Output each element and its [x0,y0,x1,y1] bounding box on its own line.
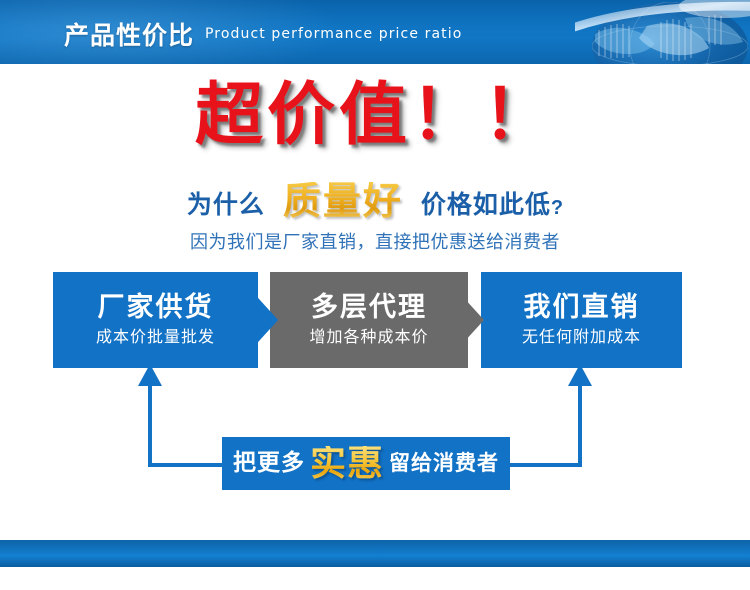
flow-box-multi-level-agency: 多层代理 增加各种成本价 [270,272,468,368]
flow-box-subtitle: 成本价批量批发 [96,329,215,346]
flow-box-title: 厂家供货 [98,294,214,322]
header-title-en: Product performance price ratio [205,26,462,42]
subtitle-row: 为什么 质量好 价格如此低? [0,182,750,220]
flow-box-title: 多层代理 [311,294,427,322]
header-banner: 产品性价比 Product performance price ratio [0,0,750,64]
subtitle-line2: 因为我们是厂家直销，直接把优惠送给消费者 [0,228,750,254]
flow-box-title: 我们直销 [524,294,640,322]
chevron-right-icon-blue [250,298,280,342]
bottom-accent-bar [0,540,750,567]
world-globe-icon [575,0,750,64]
flow-box-subtitle: 增加各种成本价 [309,329,428,346]
flow-box-subtitle: 无任何附加成本 [522,329,641,346]
callout-part1: 把更多 [233,452,305,475]
subtitle-highlight: 质量好 [283,182,403,220]
subtitle-part1: 为什么 [187,192,265,220]
callout-banner: 把更多 实惠 留给消费者 [222,437,510,490]
header-title-cn: 产品性价比 [64,16,194,52]
chevron-right-icon-gray [456,298,486,342]
promo-page: 产品性价比 Product performance price ratio 超价… [0,0,750,590]
callout-highlight: 实惠 [310,446,384,482]
subtitle-question-mark: ? [551,197,563,220]
flow-box-our-direct-sales: 我们直销 无任何附加成本 [481,272,682,368]
subtitle-part3: 价格如此低 [421,192,551,220]
callout-part3: 留给消费者 [389,453,499,474]
flow-box-manufacturer-supply: 厂家供货 成本价批量批发 [53,272,258,368]
page-headline: 超价值！！ [0,82,750,150]
